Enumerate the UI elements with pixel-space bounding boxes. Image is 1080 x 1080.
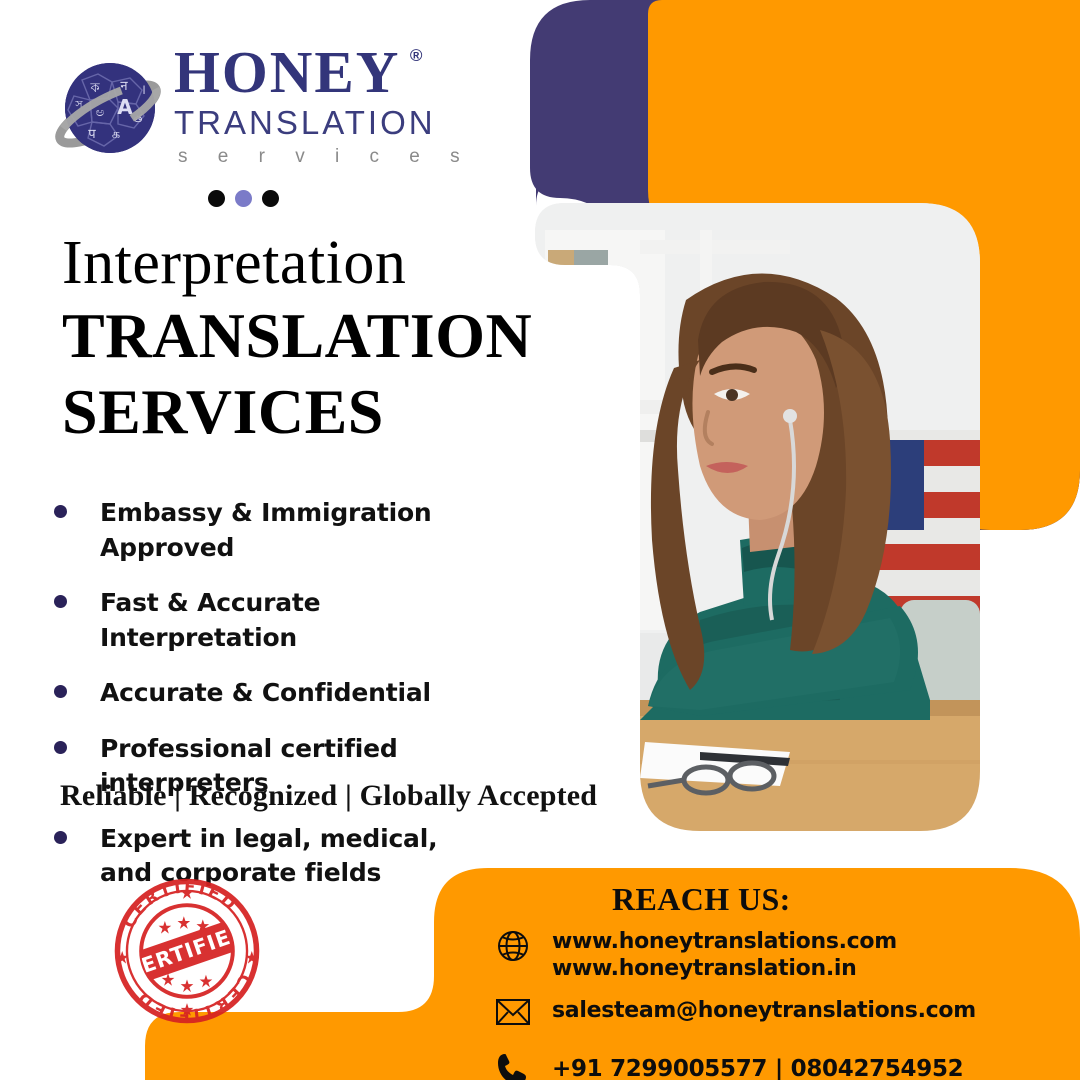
bullet-dot-icon	[54, 831, 67, 844]
dot-1	[208, 190, 225, 207]
purple-shape	[536, 0, 1080, 530]
bullet-dot-icon	[54, 505, 67, 518]
bullet-dot-icon	[54, 685, 67, 698]
contact-website-text: www.honeytranslations.com www.honeytrans…	[552, 928, 897, 983]
certified-stamp-icon: CERTIFIED CERTIFIED	[108, 872, 266, 1030]
svg-text:ا: ا	[142, 84, 145, 97]
dot-3	[262, 190, 279, 207]
svg-text:प: प	[88, 127, 96, 142]
registered-trademark-icon: ®	[410, 48, 423, 65]
poster-canvas: ক न ا A ಅ স प க త HONEY ® TRANSLATION s …	[0, 0, 1080, 1080]
svg-text:ಅ: ಅ	[96, 105, 105, 120]
brand-logo[interactable]: ক न ا A ಅ স प க త HONEY ® TRANSLATION s …	[52, 44, 472, 184]
phone-icon	[492, 1051, 534, 1080]
headline-bold-line-2: SERVICES	[62, 378, 532, 446]
svg-text:ক: ক	[89, 81, 100, 96]
list-item-label: Embassy & Immigration Approved	[100, 496, 524, 565]
phone-line-1[interactable]: +91 7299005577 | 08042754952	[552, 1055, 963, 1080]
contact-email-text: salesteam@honeytranslations.com	[552, 997, 976, 1025]
contact-heading: REACH US:	[612, 881, 791, 918]
contact-phone-text: +91 7299005577 | 08042754952	[552, 1051, 963, 1080]
contact-phone-row[interactable]: +91 7299005577 | 08042754952	[492, 1051, 1052, 1080]
svg-text:க: க	[112, 127, 120, 142]
bullet-dot-icon	[54, 595, 67, 608]
contact-list: www.honeytranslations.com www.honeytrans…	[492, 928, 1052, 1080]
tagline: Reliable | Recognized | Globally Accepte…	[60, 779, 597, 813]
list-item-label: Fast & Accurate Interpretation	[100, 586, 524, 655]
headline-script-line: Interpretation	[62, 232, 532, 294]
website-line-2[interactable]: www.honeytranslation.in	[552, 956, 897, 983]
decorative-dots	[208, 190, 279, 207]
dot-2	[235, 190, 252, 207]
interpreter-at-desk-photo	[535, 203, 980, 831]
bullet-dot-icon	[54, 741, 67, 754]
list-item: Fast & Accurate Interpretation	[54, 586, 524, 655]
logo-primary-name: HONEY	[174, 39, 400, 105]
page-title: Interpretation TRANSLATION SERVICES	[62, 232, 532, 446]
globe-languages-icon: ক न ا A ಅ স प க త	[52, 52, 170, 170]
orange-shape	[648, 0, 1080, 530]
website-line-1[interactable]: www.honeytranslations.com	[552, 929, 897, 956]
email-line-1[interactable]: salesteam@honeytranslations.com	[552, 998, 976, 1025]
purple-shape-body	[530, 0, 1042, 530]
logo-tertiary-name: s e r v i c e s	[174, 146, 474, 168]
envelope-icon	[492, 997, 534, 1037]
feature-list: Embassy & Immigration Approved Fast & Ac…	[54, 496, 524, 912]
logo-secondary-name: TRANSLATION	[174, 104, 474, 142]
logo-wordmark: HONEY ® TRANSLATION s e r v i c e s	[174, 44, 474, 168]
contact-website-row[interactable]: www.honeytranslations.com www.honeytrans…	[492, 928, 1052, 983]
list-item: Accurate & Confidential	[54, 676, 524, 711]
contact-email-row[interactable]: salesteam@honeytranslations.com	[492, 997, 1052, 1037]
list-item-label: Accurate & Confidential	[100, 676, 431, 711]
globe-icon	[492, 928, 534, 968]
list-item: Embassy & Immigration Approved	[54, 496, 524, 565]
headline-bold-line-1: TRANSLATION	[62, 302, 532, 370]
